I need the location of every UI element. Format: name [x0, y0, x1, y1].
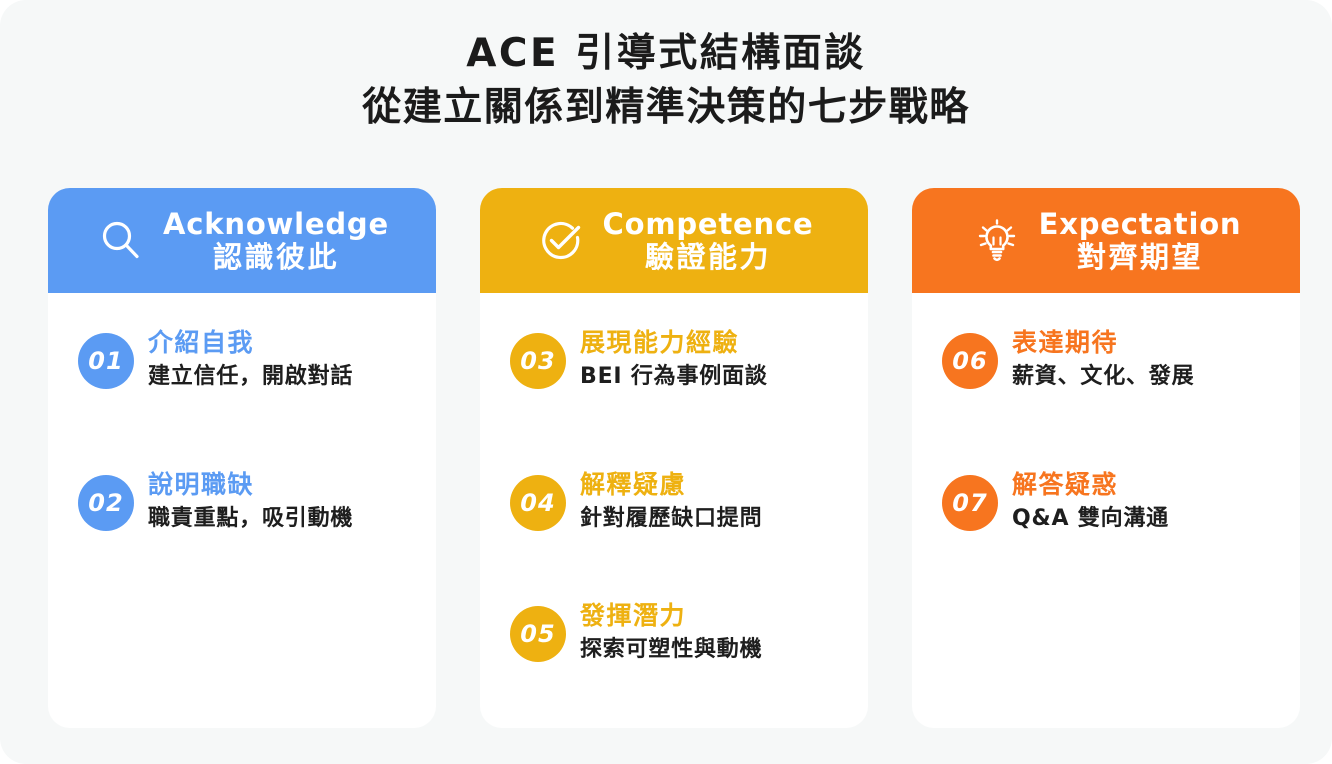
page-title-line-2: 從建立關係到精準決策的七步戰略: [0, 80, 1332, 136]
card-competence: Competence 驗證能力 03 展現能力經驗 BEI 行為事例面談 04 …: [480, 188, 868, 728]
step-text-04: 解釋疑慮 針對履歷缺口提問: [580, 469, 762, 534]
card-header-zh-competence: 驗證能力: [645, 242, 771, 273]
step-text-02: 說明職缺 職責重點，吸引動機: [148, 469, 353, 534]
card-header-text-acknowledge: Acknowledge 認識彼此: [163, 209, 389, 272]
step-subtitle-02: 職責重點，吸引動機: [148, 504, 353, 534]
step-subtitle-04: 針對履歷缺口提問: [580, 504, 762, 534]
step-number-07: 07: [942, 475, 998, 531]
step-title-06: 表達期待: [1012, 327, 1194, 359]
card-acknowledge: Acknowledge 認識彼此 01 介紹自我 建立信任，開啟對話 02 說明…: [48, 188, 436, 728]
card-header-expectation: Expectation 對齊期望: [912, 188, 1300, 293]
step-subtitle-03: BEI 行為事例面談: [580, 362, 768, 392]
card-body-acknowledge: 01 介紹自我 建立信任，開啟對話 02 說明職缺 職責重點，吸引動機: [48, 293, 436, 728]
card-body-expectation: 06 表達期待 薪資、文化、發展 07 解答疑惑 Q&A 雙向溝通: [912, 293, 1300, 728]
step-item-05: 05 發揮潛力 探索可塑性與動機: [510, 600, 762, 665]
step-title-03: 展現能力經驗: [580, 327, 768, 359]
step-title-04: 解釋疑慮: [580, 469, 762, 501]
column-container: Acknowledge 認識彼此 01 介紹自我 建立信任，開啟對話 02 說明…: [48, 188, 1300, 728]
step-title-05: 發揮潛力: [580, 600, 762, 632]
step-text-06: 表達期待 薪資、文化、發展: [1012, 327, 1194, 392]
magnifier-icon: [95, 215, 147, 267]
step-item-01: 01 介紹自我 建立信任，開啟對話: [78, 327, 353, 392]
step-subtitle-01: 建立信任，開啟對話: [148, 362, 353, 392]
step-item-07: 07 解答疑惑 Q&A 雙向溝通: [942, 469, 1169, 534]
page-title-line-1: ACE 引導式結構面談: [0, 28, 1332, 80]
step-number-02: 02: [78, 475, 134, 531]
step-title-07: 解答疑惑: [1012, 469, 1169, 501]
infographic-canvas: ACE 引導式結構面談 從建立關係到精準決策的七步戰略 Acknowledge …: [0, 0, 1332, 764]
card-header-zh-expectation: 對齊期望: [1077, 242, 1203, 273]
step-number-06: 06: [942, 333, 998, 389]
lightbulb-icon: [971, 215, 1023, 267]
card-header-acknowledge: Acknowledge 認識彼此: [48, 188, 436, 293]
page-title: ACE 引導式結構面談 從建立關係到精準決策的七步戰略: [0, 28, 1332, 136]
step-title-01: 介紹自我: [148, 327, 353, 359]
step-number-03: 03: [510, 333, 566, 389]
step-item-06: 06 表達期待 薪資、文化、發展: [942, 327, 1194, 392]
step-subtitle-07: Q&A 雙向溝通: [1012, 504, 1169, 534]
card-header-en-competence: Competence: [603, 209, 814, 240]
step-number-04: 04: [510, 475, 566, 531]
card-expectation: Expectation 對齊期望 06 表達期待 薪資、文化、發展 07 解答疑…: [912, 188, 1300, 728]
step-text-05: 發揮潛力 探索可塑性與動機: [580, 600, 762, 665]
step-text-01: 介紹自我 建立信任，開啟對話: [148, 327, 353, 392]
step-subtitle-06: 薪資、文化、發展: [1012, 362, 1194, 392]
card-header-en-acknowledge: Acknowledge: [163, 209, 389, 240]
card-header-text-competence: Competence 驗證能力: [603, 209, 814, 272]
card-body-competence: 03 展現能力經驗 BEI 行為事例面談 04 解釋疑慮 針對履歷缺口提問 05: [480, 293, 868, 728]
step-text-07: 解答疑惑 Q&A 雙向溝通: [1012, 469, 1169, 534]
step-number-01: 01: [78, 333, 134, 389]
step-item-03: 03 展現能力經驗 BEI 行為事例面談: [510, 327, 768, 392]
card-header-text-expectation: Expectation 對齊期望: [1039, 209, 1242, 272]
card-header-zh-acknowledge: 認識彼此: [213, 242, 339, 273]
step-number-05: 05: [510, 606, 566, 662]
step-subtitle-05: 探索可塑性與動機: [580, 635, 762, 665]
step-title-02: 說明職缺: [148, 469, 353, 501]
step-item-02: 02 說明職缺 職責重點，吸引動機: [78, 469, 353, 534]
check-circle-icon: [535, 215, 587, 267]
card-header-competence: Competence 驗證能力: [480, 188, 868, 293]
step-text-03: 展現能力經驗 BEI 行為事例面談: [580, 327, 768, 392]
card-header-en-expectation: Expectation: [1039, 209, 1242, 240]
step-item-04: 04 解釋疑慮 針對履歷缺口提問: [510, 469, 762, 534]
